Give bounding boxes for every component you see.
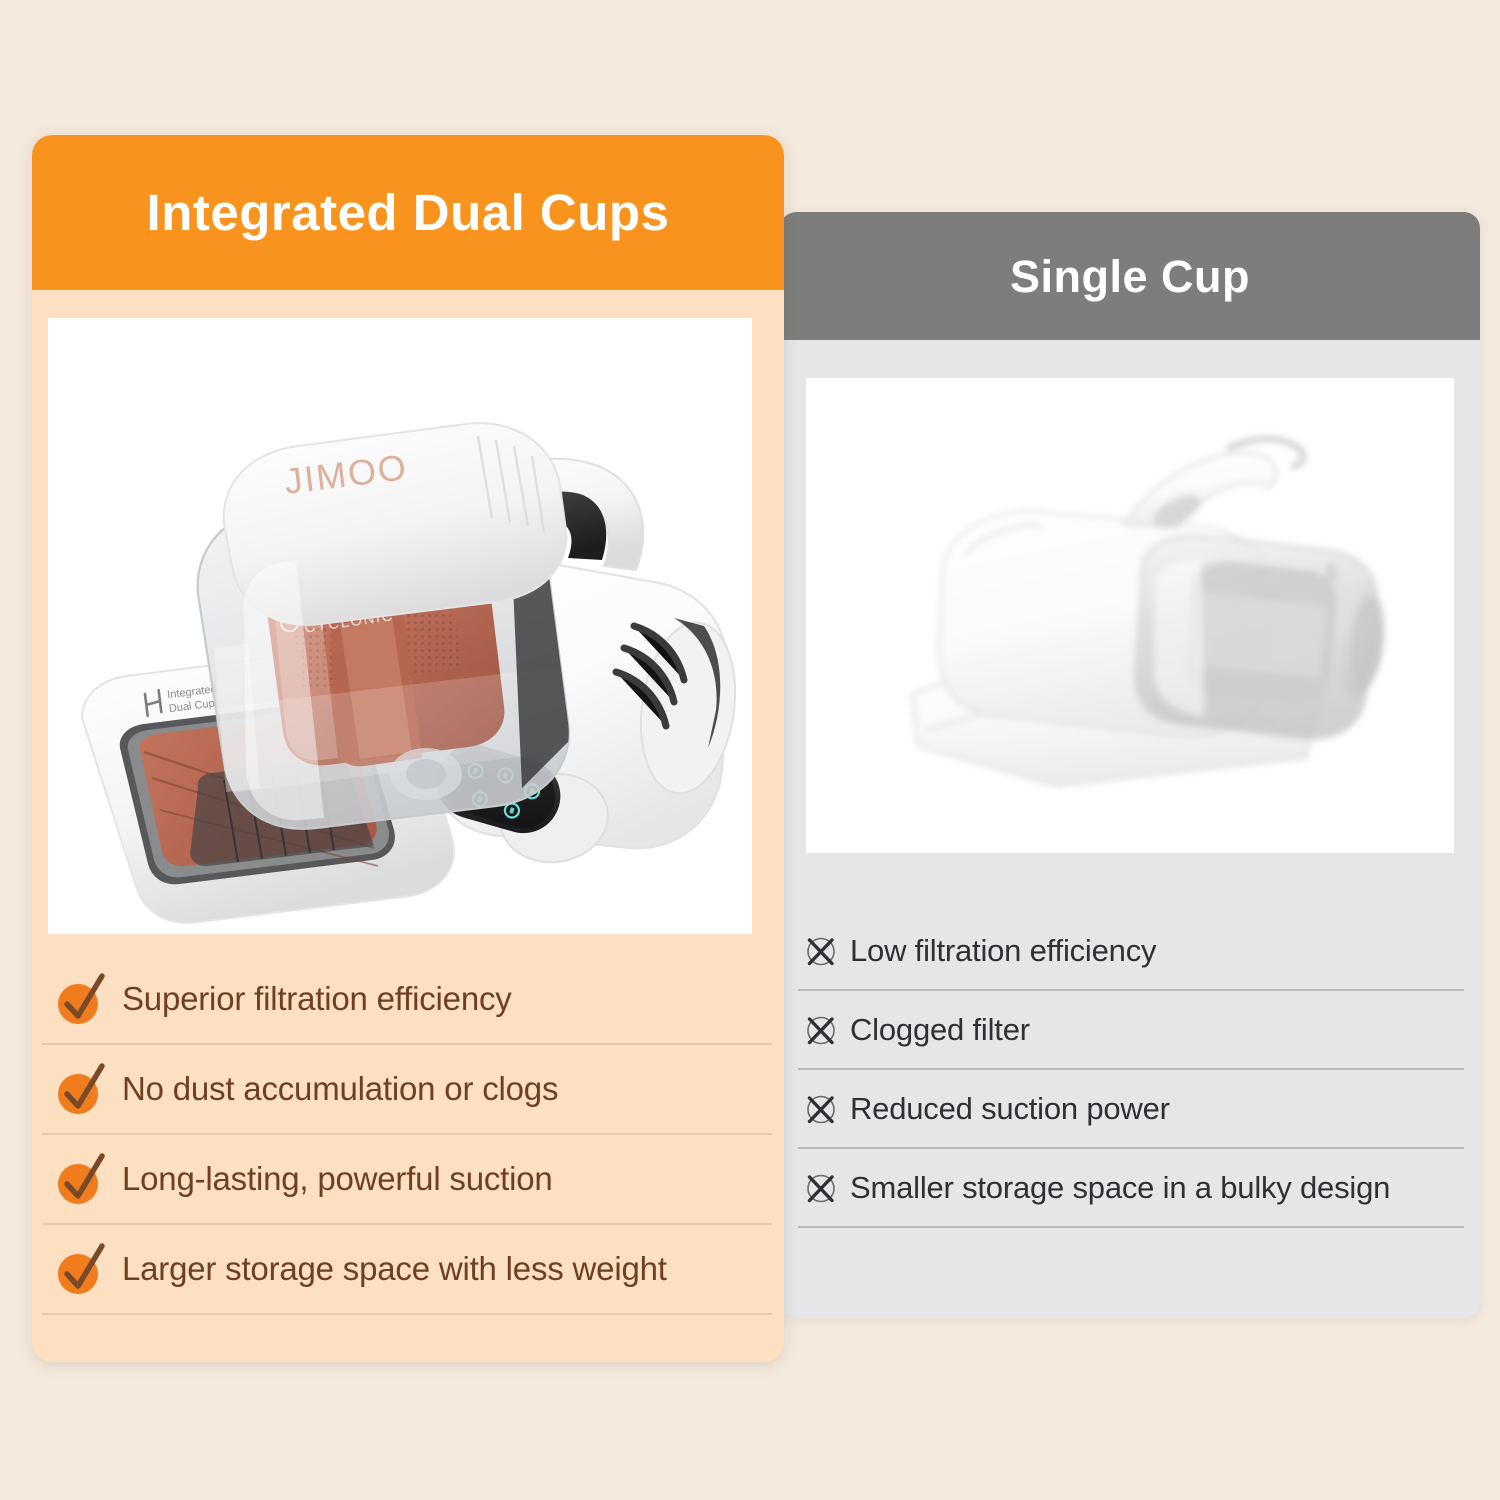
dual-cups-title: Integrated Dual Cups [147,187,670,238]
single-cup-header: Single Cup [780,212,1480,340]
list-item: Larger storage space with less weight [42,1225,772,1315]
list-item-label: Clogged filter [850,1012,1030,1048]
list-item-label: Low filtration efficiency [850,933,1156,969]
list-item: Reduced suction power [798,1070,1464,1149]
list-item: Clogged filter [798,991,1464,1070]
list-item-label: Larger storage space with less weight [122,1250,667,1288]
list-item-label: Superior filtration efficiency [122,980,512,1018]
orange-check-icon [56,1241,106,1297]
single-cup-title: Single Cup [1010,254,1250,299]
list-item: Smaller storage space in a bulky design [798,1149,1464,1228]
single-cup-vacuum-illustration [806,378,1454,853]
circle-x-icon [804,1171,838,1205]
dual-cups-benefit-list: Superior filtration efficiency No dust a… [42,955,772,1315]
circle-x-icon [804,1013,838,1047]
orange-check-icon [56,971,106,1027]
dual-cups-vacuum-illustration: Integrated Dual Cup [48,318,752,934]
list-item-label: No dust accumulation or clogs [122,1070,558,1108]
list-item: Superior filtration efficiency [42,955,772,1045]
dual-cups-header: Integrated Dual Cups [32,135,784,290]
list-item: No dust accumulation or clogs [42,1045,772,1135]
orange-check-icon [56,1061,106,1117]
comparison-infographic: Single Cup [0,0,1500,1500]
dual-cups-card: Integrated Dual Cups [32,135,784,1362]
list-item-label: Reduced suction power [850,1091,1170,1127]
orange-check-icon [56,1151,106,1207]
list-item: Low filtration efficiency [798,912,1464,991]
single-cup-drawback-list: Low filtration efficiency Clogged filter… [798,912,1464,1228]
list-item: Long-lasting, powerful suction [42,1135,772,1225]
list-item-label: Smaller storage space in a bulky design [850,1170,1390,1206]
circle-x-icon [804,934,838,968]
single-cup-card: Single Cup [780,212,1480,1318]
circle-x-icon [804,1092,838,1126]
single-cup-product-photo [806,378,1454,853]
list-item-label: Long-lasting, powerful suction [122,1160,553,1198]
dual-cups-product-photo: Integrated Dual Cup [48,318,752,934]
